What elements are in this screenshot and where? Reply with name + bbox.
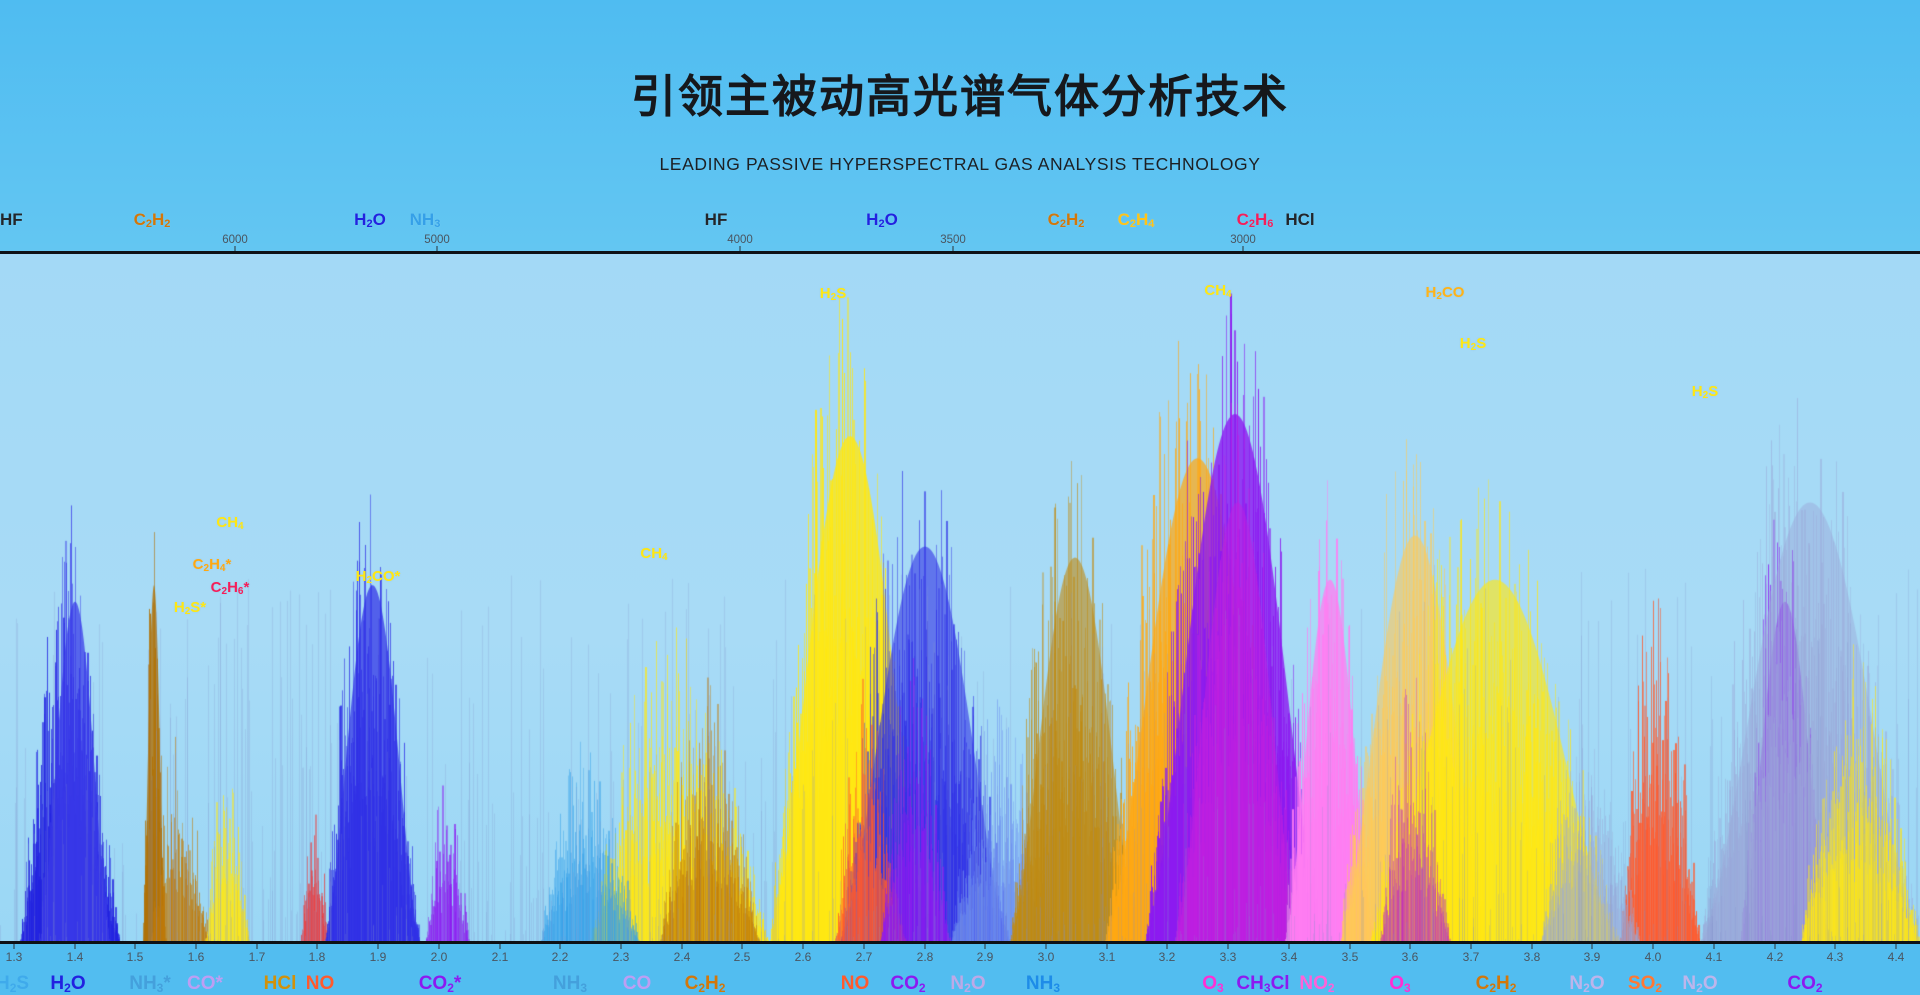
bottom-tick-mark-2.7	[864, 944, 865, 949]
bottom-tick-mark-4.2	[1775, 944, 1776, 949]
bottom-tick-label-2.9: 2.9	[977, 950, 994, 964]
top-species-label-nh3: NH3	[410, 210, 441, 230]
bottom-species-label-nh3: NH3	[553, 973, 587, 995]
bottom-tick-mark-3.3	[1228, 944, 1229, 949]
bottom-tick-label-4.4: 4.4	[1888, 950, 1905, 964]
bottom-tick-label-3.4: 3.4	[1281, 950, 1298, 964]
bottom-tick-mark-3.2	[1167, 944, 1168, 949]
bottom-tick-mark-4.3	[1835, 944, 1836, 949]
bottom-species-label-h2s: H2S	[0, 973, 29, 995]
bottom-tick-label-1.6: 1.6	[188, 950, 205, 964]
bottom-tick-mark-2.9	[985, 944, 986, 949]
bottom-tick-label-1.4: 1.4	[67, 950, 84, 964]
bottom-tick-mark-3.6	[1410, 944, 1411, 949]
plot-canvas-wrapper: CH4C2H4*C2H6*H2S*H2CO*CH4H2SCH4H2COH2SH2…	[0, 254, 1920, 944]
bottom-tick-mark-4.4	[1896, 944, 1897, 949]
bottom-tick-mark-2.3	[621, 944, 622, 949]
bottom-species-label-no: NO	[841, 973, 870, 995]
top-tick-label-3500: 3500	[940, 234, 966, 246]
plot-annotation-h2s: H2S	[820, 285, 846, 303]
bottom-tick-label-3.0: 3.0	[1038, 950, 1055, 964]
bottom-tick-label-3.2: 3.2	[1159, 950, 1176, 964]
plot-annotation-h2s: H2S	[1460, 335, 1486, 353]
top-species-label-c2h2: C2H2	[1048, 210, 1085, 230]
bottom-tick-mark-1.7	[257, 944, 258, 949]
bottom-tick-mark-2.8	[925, 944, 926, 949]
bottom-species-label-costar: CO*	[187, 973, 223, 995]
bottom-species-label-nh3: NH3	[1026, 973, 1060, 995]
bottom-tick-label-2.8: 2.8	[917, 950, 934, 964]
bottom-species-label-hcl: HCl	[264, 973, 297, 995]
top-tick-label-5000: 5000	[424, 234, 450, 246]
bottom-species-label-c2h2: C2H2	[1476, 973, 1517, 995]
bottom-tick-mark-2.1	[500, 944, 501, 949]
bottom-tick-label-2.4: 2.4	[674, 950, 691, 964]
plot-annotation-h2s: H2S	[1692, 383, 1718, 401]
bottom-tick-label-2.1: 2.1	[492, 950, 509, 964]
bottom-species-label-o3: O3	[1389, 973, 1410, 995]
bottom-tick-label-3.5: 3.5	[1342, 950, 1359, 964]
bottom-tick-mark-3.7	[1471, 944, 1472, 949]
bottom-tick-label-3.3: 3.3	[1220, 950, 1237, 964]
bottom-species-label-h2o: H2O	[50, 973, 85, 995]
page-title: 引领主被动高光谱气体分析技术	[0, 60, 1920, 125]
bottom-tick-mark-3.1	[1107, 944, 1108, 949]
bottom-tick-label-1.5: 1.5	[127, 950, 144, 964]
bottom-tick-label-1.8: 1.8	[309, 950, 326, 964]
bottom-species-label-no: NO	[306, 973, 335, 995]
bottom-species-label-co2: CO2	[1787, 973, 1822, 995]
bottom-species-label-n2o: N2O	[1682, 973, 1717, 995]
plot-annotation-c2h4star: C2H4*	[193, 556, 232, 574]
bottom-species-label-ch3cl: CH3Cl	[1236, 973, 1289, 995]
bottom-tick-label-4.1: 4.1	[1706, 950, 1723, 964]
bottom-tick-label-2.6: 2.6	[795, 950, 812, 964]
bottom-species-label-co2: CO2	[890, 973, 925, 995]
spectra-canvas	[0, 254, 1920, 944]
bottom-tick-label-3.7: 3.7	[1463, 950, 1480, 964]
bottom-tick-mark-1.5	[135, 944, 136, 949]
bottom-species-label-co2star: CO2*	[419, 973, 462, 995]
bottom-tick-mark-2.6	[803, 944, 804, 949]
bottom-tick-mark-2.5	[742, 944, 743, 949]
bottom-tick-mark-1.6	[196, 944, 197, 949]
bottom-tick-label-3.9: 3.9	[1584, 950, 1601, 964]
bottom-tick-label-4.0: 4.0	[1645, 950, 1662, 964]
bottom-tick-label-1.7: 1.7	[249, 950, 266, 964]
bottom-tick-mark-3.0	[1046, 944, 1047, 949]
bottom-species-label-nh3star: NH3*	[129, 973, 171, 995]
bottom-tick-label-3.6: 3.6	[1402, 950, 1419, 964]
top-species-label-h2o: H2O	[866, 210, 898, 230]
bottom-tick-mark-1.8	[317, 944, 318, 949]
bottom-tick-mark-1.3	[14, 944, 15, 949]
top-species-label-hf: HF	[0, 210, 23, 230]
bottom-tick-label-2.2: 2.2	[552, 950, 569, 964]
bottom-axis-line	[0, 941, 1920, 944]
bottom-species-label-n2o: N2O	[950, 973, 985, 995]
bottom-tick-label-4.2: 4.2	[1767, 950, 1784, 964]
plot-annotation-h2sstar: H2S*	[174, 599, 206, 617]
top-tick-label-4000: 4000	[727, 234, 753, 246]
bottom-tick-label-1.3: 1.3	[6, 950, 23, 964]
bottom-tick-mark-3.4	[1289, 944, 1290, 949]
bottom-tick-mark-4.0	[1653, 944, 1654, 949]
spectrum-chart: HFC2H2H2ONH3HFH2OC2H2C2H4C2H6HCl 6000500…	[0, 196, 1920, 828]
plot-annotation-h2costar: H2CO*	[356, 568, 401, 586]
bottom-tick-mark-2.0	[439, 944, 440, 949]
bottom-tick-label-2.5: 2.5	[734, 950, 751, 964]
top-species-label-c2h6: C2H6	[1237, 210, 1274, 230]
top-species-label-h2o: H2O	[354, 210, 386, 230]
plot-annotation-c2h6star: C2H6*	[211, 579, 250, 597]
bottom-tick-mark-3.8	[1532, 944, 1533, 949]
page-subtitle: LEADING PASSIVE HYPERSPECTRAL GAS ANALYS…	[0, 154, 1920, 175]
bottom-species-label-no2: NO2	[1299, 973, 1334, 995]
bottom-species-label-c2h2: C2H2	[685, 973, 726, 995]
bottom-tick-label-2.0: 2.0	[431, 950, 448, 964]
bottom-tick-mark-3.9	[1592, 944, 1593, 949]
bottom-tick-label-2.7: 2.7	[856, 950, 873, 964]
bottom-tick-mark-2.4	[682, 944, 683, 949]
bottom-tick-mark-1.9	[378, 944, 379, 949]
bottom-species-label-o3: O3	[1202, 973, 1223, 995]
top-species-label-hf: HF	[705, 210, 728, 230]
bottom-tick-label-2.3: 2.3	[613, 950, 630, 964]
bottom-tick-label-4.3: 4.3	[1827, 950, 1844, 964]
top-tick-label-6000: 6000	[222, 234, 248, 246]
top-species-label-c2h4: C2H4	[1118, 210, 1155, 230]
plot-annotation-h2co: H2CO	[1426, 284, 1465, 302]
bottom-tick-mark-3.5	[1350, 944, 1351, 949]
top-species-label-hcl: HCl	[1285, 210, 1314, 230]
bottom-species-label-n2o: N2O	[1569, 973, 1604, 995]
plot-annotation-ch4: CH4	[216, 514, 243, 532]
plot-annotation-ch4: CH4	[1204, 282, 1231, 300]
plot-annotation-ch4: CH4	[640, 545, 667, 563]
top-tick-label-3000: 3000	[1230, 234, 1256, 246]
bottom-tick-label-3.8: 3.8	[1524, 950, 1541, 964]
plot-area: CH4C2H4*C2H6*H2S*H2CO*CH4H2SCH4H2COH2SH2…	[0, 254, 1920, 944]
bottom-tick-label-3.1: 3.1	[1099, 950, 1116, 964]
bottom-tick-mark-2.2	[560, 944, 561, 949]
bottom-species-label-co: CO	[623, 973, 652, 995]
bottom-species-label-so2: SO2	[1628, 973, 1662, 995]
poster-root: 引领主被动高光谱气体分析技术 LEADING PASSIVE HYPERSPEC…	[0, 0, 1920, 828]
top-species-label-c2h2: C2H2	[134, 210, 171, 230]
bottom-tick-mark-4.1	[1714, 944, 1715, 949]
bottom-tick-mark-1.4	[75, 944, 76, 949]
header: 引领主被动高光谱气体分析技术 LEADING PASSIVE HYPERSPEC…	[0, 0, 1920, 196]
bottom-tick-label-1.9: 1.9	[370, 950, 387, 964]
